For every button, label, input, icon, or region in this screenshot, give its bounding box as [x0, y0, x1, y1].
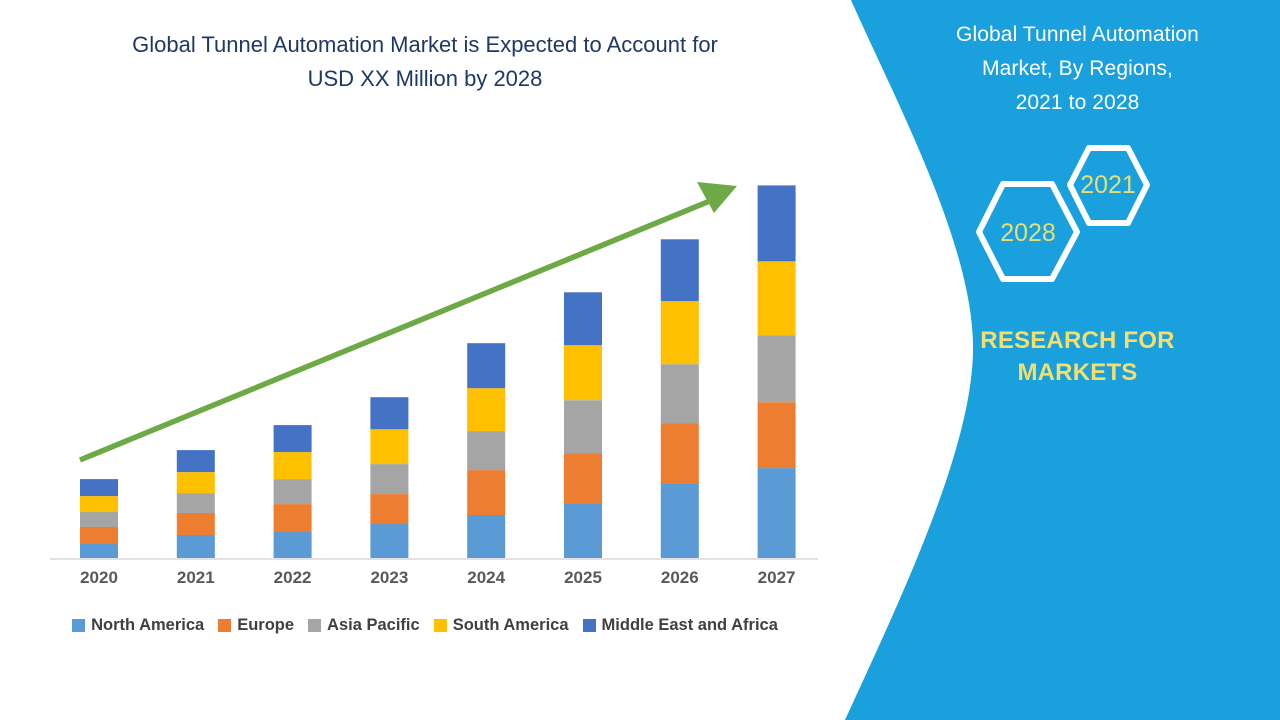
- bar-segment: [758, 468, 796, 558]
- bar-segment: [467, 515, 505, 558]
- bar-segment: [467, 343, 505, 388]
- x-axis-tick-labels: 20202021202220232024202520262027: [0, 568, 850, 596]
- bar-segment: [80, 544, 118, 558]
- hexagon-badge-2021: 2021: [1070, 148, 1147, 223]
- brand-name-line-1: RESEARCH FOR: [905, 325, 1250, 357]
- side-panel-title-line-2: Market, By Regions,: [905, 52, 1250, 86]
- x-axis-tick-label: 2024: [446, 568, 526, 588]
- side-panel-title-line-3: 2021 to 2028: [905, 86, 1250, 120]
- bar-segment: [80, 479, 118, 496]
- bar-segment: [80, 527, 118, 544]
- bar-segment: [80, 512, 118, 527]
- bar-segment: [274, 504, 312, 532]
- x-axis-tick-label: 2020: [59, 568, 139, 588]
- chart-panel: Global Tunnel Automation Market is Expec…: [0, 0, 850, 720]
- bar-segment: [274, 532, 312, 558]
- bars-group: [80, 185, 796, 558]
- hexagon-2028-label: 2028: [1000, 219, 1056, 247]
- bar-segment: [758, 185, 796, 261]
- legend-item[interactable]: North America: [72, 616, 204, 635]
- bar-segment: [564, 345, 602, 400]
- x-axis-tick-label: 2022: [253, 568, 333, 588]
- bar-segment: [80, 496, 118, 512]
- brand-name: RESEARCH FOR MARKETS: [905, 325, 1250, 389]
- bar-segment: [177, 535, 215, 558]
- bar-segment: [564, 453, 602, 503]
- chart-legend: North AmericaEuropeAsia PacificSouth Ame…: [0, 616, 850, 635]
- legend-swatch-icon: [583, 619, 596, 632]
- side-panel-title: Global Tunnel Automation Market, By Regi…: [905, 18, 1250, 120]
- legend-label: Asia Pacific: [327, 616, 420, 635]
- legend-swatch-icon: [72, 619, 85, 632]
- hexagon-2021-label: 2021: [1080, 171, 1136, 199]
- legend-label: North America: [91, 616, 204, 635]
- bar-segment: [661, 301, 699, 364]
- bar-segment: [370, 397, 408, 429]
- x-axis-tick-label: 2027: [737, 568, 817, 588]
- bar-segment: [274, 452, 312, 479]
- bar-segment: [758, 261, 796, 335]
- legend-item[interactable]: Europe: [218, 616, 294, 635]
- bar-segment: [177, 450, 215, 472]
- bar-segment: [564, 400, 602, 453]
- bar-segment: [370, 429, 408, 464]
- bar-segment: [274, 479, 312, 504]
- bar-segment: [661, 364, 699, 423]
- growth-arrow: [80, 182, 737, 460]
- side-panel-content: Global Tunnel Automation Market, By Regi…: [905, 0, 1250, 720]
- bar-segment: [564, 292, 602, 345]
- bar-segment: [467, 431, 505, 470]
- legend-item[interactable]: Asia Pacific: [308, 616, 420, 635]
- bar-segment: [758, 402, 796, 468]
- legend-label: South America: [453, 616, 569, 635]
- bar-segment: [177, 513, 215, 535]
- stacked-bar-chart-plot: [0, 0, 850, 600]
- bar-segment: [370, 464, 408, 494]
- legend-swatch-icon: [308, 619, 321, 632]
- bar-segment: [274, 425, 312, 452]
- legend-label: Europe: [237, 616, 294, 635]
- legend-swatch-icon: [218, 619, 231, 632]
- bar-segment: [177, 472, 215, 493]
- bar-segment: [661, 483, 699, 558]
- x-axis-tick-label: 2026: [640, 568, 720, 588]
- brand-name-line-2: MARKETS: [905, 357, 1250, 389]
- legend-item[interactable]: Middle East and Africa: [583, 616, 778, 635]
- x-axis-tick-label: 2023: [349, 568, 429, 588]
- bar-segment: [758, 335, 796, 402]
- bar-segment: [661, 423, 699, 483]
- hexagon-badge-group: 2021 2028: [965, 140, 1225, 285]
- bar-segment: [177, 493, 215, 513]
- hexagon-badge-2028: 2028: [979, 184, 1077, 279]
- bar-segment: [564, 503, 602, 558]
- bar-segment: [467, 470, 505, 515]
- legend-item[interactable]: South America: [434, 616, 569, 635]
- bar-segment: [661, 239, 699, 301]
- legend-label: Middle East and Africa: [602, 616, 778, 635]
- legend-swatch-icon: [434, 619, 447, 632]
- bar-segment: [370, 494, 408, 524]
- x-axis-tick-label: 2025: [543, 568, 623, 588]
- x-axis-tick-label: 2021: [156, 568, 236, 588]
- side-panel-title-line-1: Global Tunnel Automation: [905, 18, 1250, 52]
- bar-segment: [370, 524, 408, 558]
- infographic-slide: Global Tunnel Automation Market is Expec…: [0, 0, 1280, 720]
- bar-segment: [467, 388, 505, 431]
